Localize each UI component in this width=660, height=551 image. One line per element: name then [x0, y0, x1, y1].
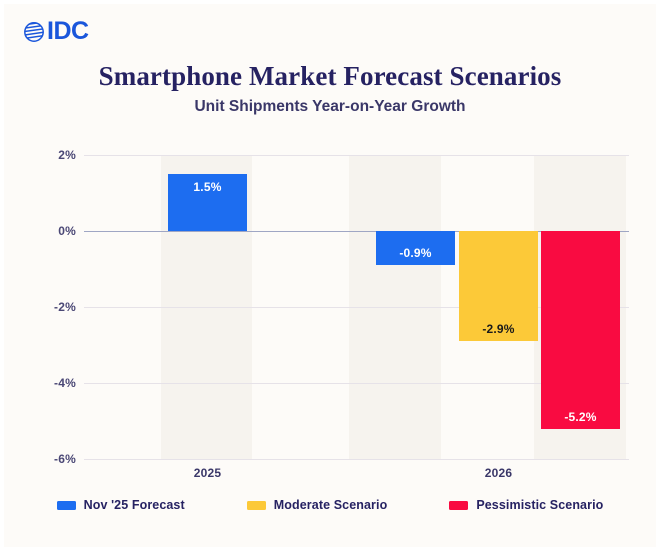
- chart-title: Smartphone Market Forecast Scenarios: [4, 61, 656, 92]
- bar-value-label: -0.9%: [376, 246, 455, 260]
- idc-globe-icon: [23, 21, 45, 43]
- legend-item-pessimistic-scenario[interactable]: Pessimistic Scenario: [449, 498, 603, 512]
- bar-value-label: 1.5%: [168, 180, 247, 194]
- bar-2026-moderate-scenario[interactable]: -2.9%: [459, 231, 538, 341]
- x-tick-2026: 2026: [459, 466, 538, 480]
- legend-label: Pessimistic Scenario: [476, 498, 603, 512]
- y-tick-2: 2%: [32, 148, 76, 162]
- legend-label: Nov '25 Forecast: [84, 498, 185, 512]
- bar-2026-pessimistic-scenario[interactable]: -5.2%: [541, 231, 620, 429]
- y-tick-minus6: -6%: [32, 452, 76, 466]
- y-tick-minus4: -4%: [32, 376, 76, 390]
- legend-item-moderate-scenario[interactable]: Moderate Scenario: [247, 498, 388, 512]
- gridline-2: [84, 155, 629, 156]
- idc-logo: IDC: [23, 19, 89, 44]
- bar-value-label: -2.9%: [459, 322, 538, 336]
- x-tick-2025: 2025: [168, 466, 247, 480]
- bar-2026-nov-forecast[interactable]: -0.9%: [376, 231, 455, 265]
- idc-wordmark: IDC: [47, 19, 89, 44]
- gridline-minus6: [84, 459, 629, 460]
- y-tick-minus2: -2%: [32, 300, 76, 314]
- chart-legend: Nov '25 Forecast Moderate Scenario Pessi…: [4, 498, 656, 512]
- y-tick-0: 0%: [32, 224, 76, 238]
- legend-swatch-red: [449, 501, 468, 510]
- legend-swatch-blue: [57, 501, 76, 510]
- chart-subtitle: Unit Shipments Year-on-Year Growth: [4, 98, 656, 116]
- legend-swatch-yellow: [247, 501, 266, 510]
- bar-2025-nov-forecast[interactable]: 1.5%: [168, 174, 247, 231]
- legend-item-nov-forecast[interactable]: Nov '25 Forecast: [57, 498, 185, 512]
- legend-label: Moderate Scenario: [274, 498, 388, 512]
- plot-area: 2% 0% -2% -4% -6% 1.5% -0.9% -2.9% -5.2%…: [84, 155, 629, 460]
- chart-card: IDC Smartphone Market Forecast Scenarios…: [4, 4, 656, 547]
- bar-value-label: -5.2%: [541, 410, 620, 424]
